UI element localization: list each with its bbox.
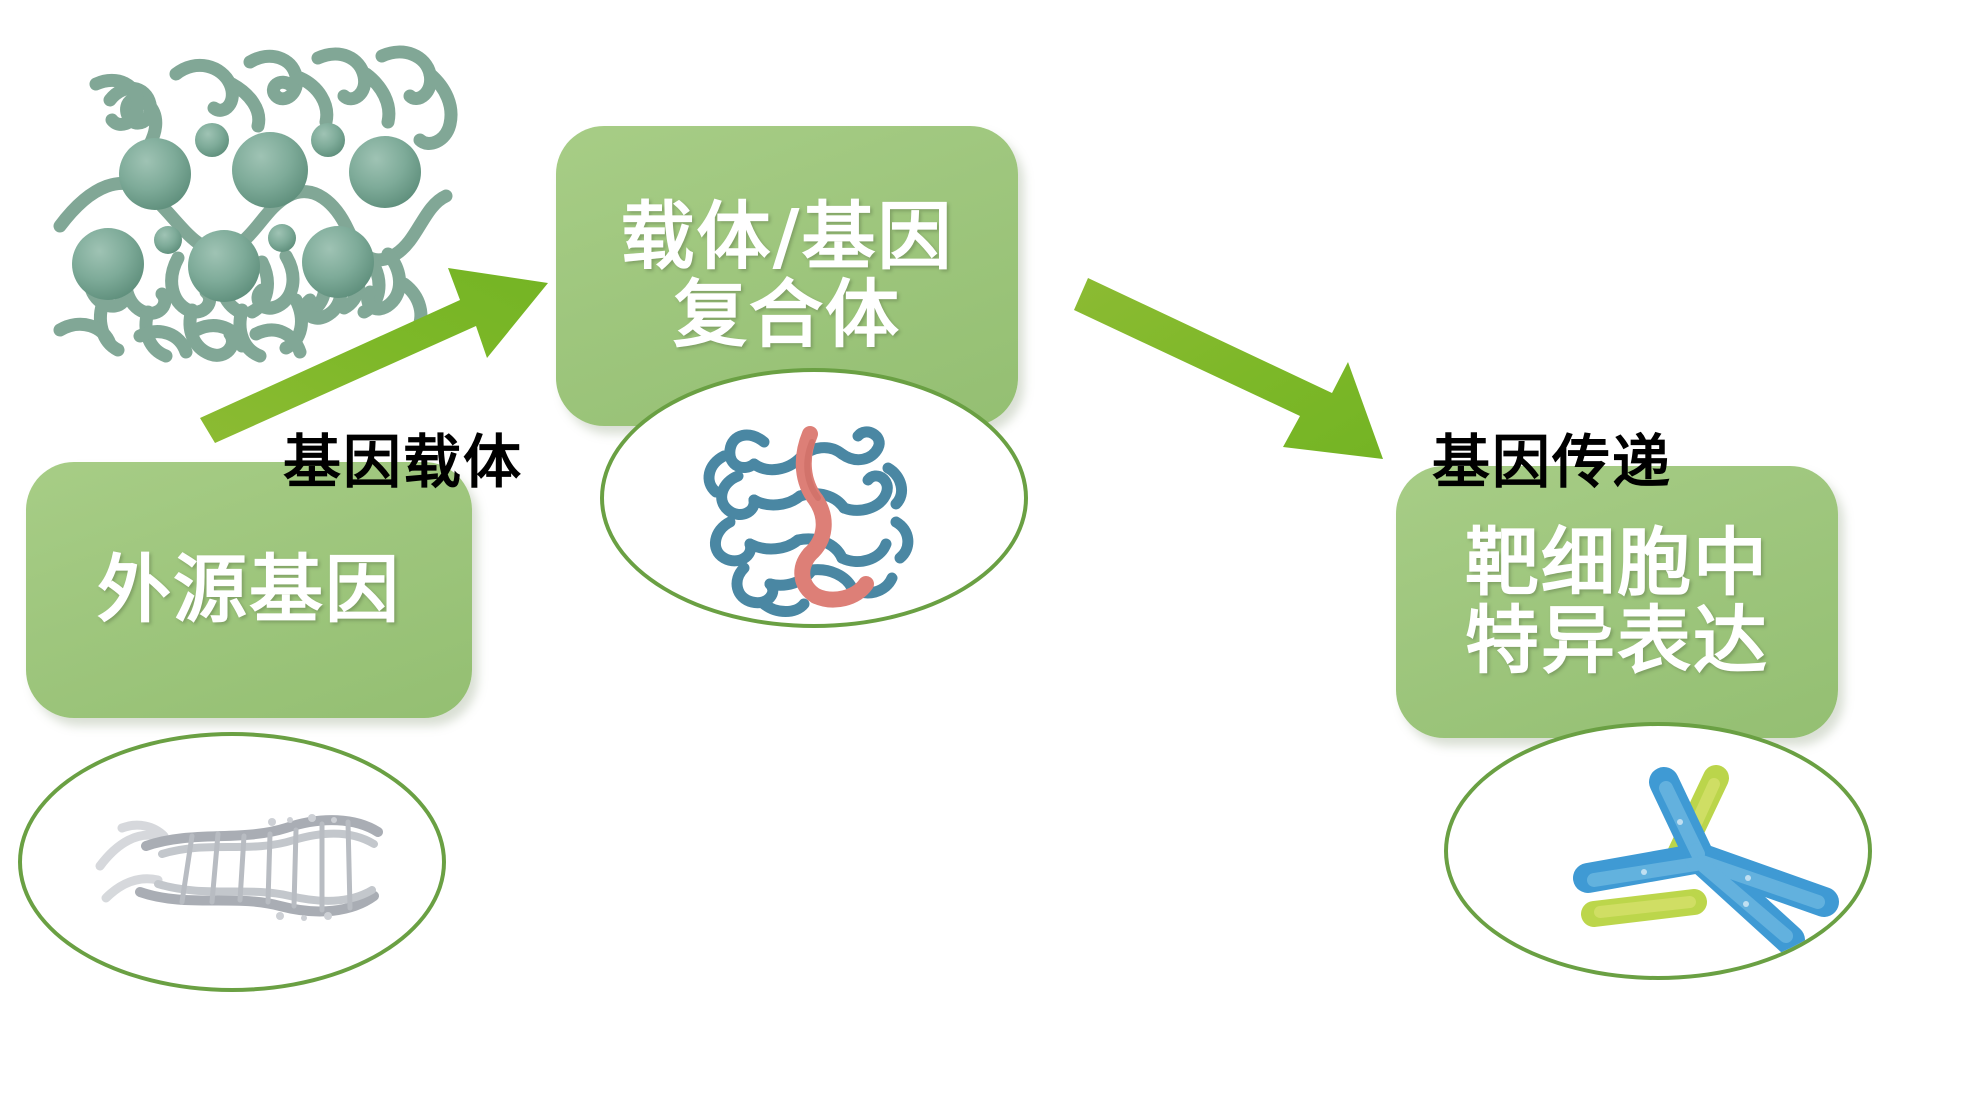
box-target-cell-expression-label: 靶细胞中 特异表达 [1465, 524, 1769, 681]
diagram-canvas: 载体/基因 复合体 外源基因 靶细胞中 特异表达 [0, 0, 1987, 1118]
dna-double-helix-icon [22, 736, 442, 988]
box-exogenous-gene[interactable]: 外源基因 [26, 462, 472, 718]
box-target-cell-expression[interactable]: 靶细胞中 特异表达 [1396, 466, 1838, 738]
box-exogenous-gene-label: 外源基因 [97, 551, 401, 629]
gene-delivery-arrow-label: 基因传递 [1432, 415, 1672, 499]
protein-dna-complex-icon [604, 372, 1024, 624]
gene-delivery-arrow-shape [1074, 278, 1383, 459]
box-vector-gene-complex-label: 载体/基因 复合体 [620, 198, 953, 355]
polymer-sphere-group [72, 123, 421, 302]
antibody-icon [1448, 726, 1868, 976]
ellipse-antibody [1444, 722, 1872, 980]
gene-carrier-arrow-label: 基因载体 [283, 415, 523, 499]
ellipse-dna-helix [18, 732, 446, 992]
ellipse-protein-dna-complex [600, 368, 1028, 628]
